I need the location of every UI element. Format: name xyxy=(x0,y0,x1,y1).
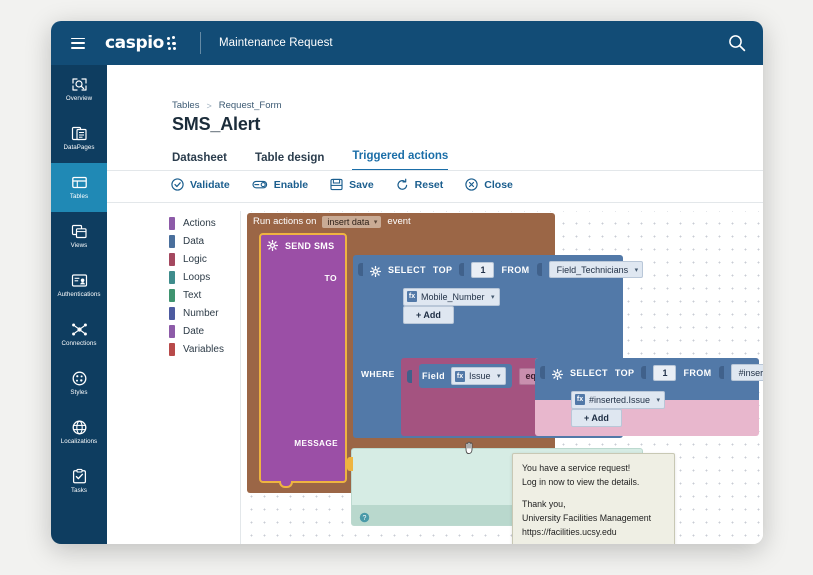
brand-dots-icon xyxy=(167,36,178,50)
block-plug xyxy=(347,457,353,471)
message-label: MESSAGE xyxy=(294,439,338,448)
close-button[interactable]: Close xyxy=(465,178,513,191)
palette-item-loops[interactable]: Loops xyxy=(169,268,240,286)
palette-swatch xyxy=(169,289,175,302)
connections-icon xyxy=(71,321,88,338)
action-toolbar: Validate Enable xyxy=(171,178,513,191)
message-text-popup[interactable]: You have a service request! Log in now t… xyxy=(512,453,675,544)
palette-label: Data xyxy=(183,236,204,247)
sidebar-item-connections[interactable]: Connections xyxy=(51,310,107,359)
page-title: SMS_Alert xyxy=(172,114,260,135)
sidebar-item-label: DataPages xyxy=(63,145,94,151)
popup-line-3: Thank you, xyxy=(522,498,665,512)
fx-field-icon: fx xyxy=(407,291,417,302)
send-sms-block[interactable]: SEND SMS TO MESSAGE xyxy=(259,233,347,483)
palette-label: Variables xyxy=(183,344,224,355)
block-plug xyxy=(719,366,724,379)
reset-label: Reset xyxy=(415,179,444,191)
chevron-down-icon: ▾ xyxy=(497,372,501,380)
add-field-button[interactable]: + Add xyxy=(403,306,454,324)
chevron-down-icon: ▾ xyxy=(374,218,378,226)
top-keyword: TOP xyxy=(615,368,635,378)
condition-field-chip[interactable]: fx Issue ▾ xyxy=(451,367,506,385)
close-label: Close xyxy=(484,179,513,191)
fx-field-icon: fx xyxy=(455,371,465,382)
popup-line-5: https://facilities.ucsy.edu xyxy=(522,526,665,540)
chevron-down-icon: ▾ xyxy=(491,293,495,301)
subquery-field-value: #inserted.Issue xyxy=(589,395,650,405)
select-field-chip[interactable]: fx Mobile_Number ▾ xyxy=(403,288,500,306)
save-button[interactable]: Save xyxy=(330,178,374,191)
tabs-divider xyxy=(107,170,763,171)
top-keyword: TOP xyxy=(433,265,453,275)
sidebar-item-label: Connections xyxy=(62,341,97,347)
chevron-down-icon: ▾ xyxy=(635,266,639,274)
sidebar-item-styles[interactable]: Styles xyxy=(51,359,107,408)
views-icon xyxy=(71,223,88,240)
from-table-select[interactable]: Field_Technicians ▾ xyxy=(549,261,644,278)
event-type-value: insert data xyxy=(327,217,369,227)
sidebar-item-label: Overview xyxy=(66,96,92,102)
content-area: Tables > Request_Form SMS_Alert Datashee… xyxy=(107,65,763,544)
subquery-container[interactable]: SELECT TOP 1 FROM #inserted ▾ xyxy=(535,358,759,436)
sidebar-item-authentications[interactable]: Authentications xyxy=(51,261,107,310)
select-keyword: SELECT xyxy=(570,368,608,378)
tab-triggered-actions[interactable]: Triggered actions xyxy=(352,150,448,171)
palette-swatch xyxy=(169,307,175,320)
reset-button[interactable]: Reset xyxy=(396,178,444,191)
select-keyword: SELECT xyxy=(388,265,426,275)
from-table-value: #inserted xyxy=(739,368,763,378)
gear-icon[interactable] xyxy=(552,367,563,378)
caspio-logo[interactable]: caspio xyxy=(105,33,178,53)
sidebar-item-overview[interactable]: Overview xyxy=(51,65,107,114)
event-container[interactable]: Run actions on insert data ▾ event xyxy=(247,213,555,493)
palette-swatch xyxy=(169,235,175,248)
palette-item-number[interactable]: Number xyxy=(169,304,240,322)
reset-undo-icon xyxy=(396,178,409,191)
gear-icon[interactable] xyxy=(370,264,381,275)
toggle-icon xyxy=(252,178,268,191)
pointer-hand-cursor xyxy=(463,441,475,455)
palette-item-data[interactable]: Data xyxy=(169,232,240,250)
block-plug xyxy=(407,370,412,383)
topbar-divider xyxy=(200,32,201,54)
top-bar: caspio Maintenance Request xyxy=(51,21,763,65)
fx-field-icon: fx xyxy=(575,394,585,405)
validate-button[interactable]: Validate xyxy=(171,178,230,191)
chevron-down-icon: ▾ xyxy=(657,396,661,404)
palette-swatch xyxy=(169,253,175,266)
app-window: caspio Maintenance Request Overvie xyxy=(51,21,763,544)
popup-line-2: Log in now to view the details. xyxy=(522,476,665,490)
sidebar-item-localizations[interactable]: Localizations xyxy=(51,408,107,457)
search-icon[interactable] xyxy=(727,33,747,53)
palette-swatch xyxy=(169,325,175,338)
field-keyword: Field xyxy=(422,371,445,381)
app-title: Maintenance Request xyxy=(219,37,333,49)
sidebar-item-datapages[interactable]: DataPages xyxy=(51,114,107,163)
palette-label: Loops xyxy=(183,272,210,283)
palette-label: Date xyxy=(183,326,204,337)
palette-swatch xyxy=(169,217,175,230)
send-sms-header: SEND SMS xyxy=(267,240,334,251)
popup-line-1: You have a service request! xyxy=(522,462,665,476)
to-label: TO xyxy=(325,273,337,283)
save-label: Save xyxy=(349,179,374,191)
enable-label: Enable xyxy=(274,179,308,191)
close-circle-icon xyxy=(465,178,478,191)
popup-spacer xyxy=(522,489,665,498)
trigger-canvas[interactable]: Run actions on insert data ▾ event xyxy=(241,211,763,544)
select-block-outer[interactable]: SELECT TOP 1 FROM Field_Technicians ▾ xyxy=(353,255,623,438)
breadcrumb-root[interactable]: Tables xyxy=(172,100,199,111)
palette-label: Text xyxy=(183,290,201,301)
breadcrumb-current[interactable]: Request_Form xyxy=(219,100,282,111)
sidebar-item-label: Tables xyxy=(70,194,88,200)
from-table-value: Field_Technicians xyxy=(557,265,629,275)
tab-table-design[interactable]: Table design xyxy=(255,152,324,171)
palette-swatch xyxy=(169,271,175,284)
palette-swatch xyxy=(169,343,175,356)
enable-button[interactable]: Enable xyxy=(252,178,308,191)
from-keyword: FROM xyxy=(683,368,711,378)
block-plug xyxy=(537,263,542,276)
localizations-globe-icon xyxy=(71,419,88,436)
event-header: Run actions on insert data ▾ event xyxy=(247,213,419,230)
block-plug xyxy=(358,263,363,276)
block-palette: Actions Data Logic Loops Text Number xyxy=(169,211,241,544)
sidebar-item-label: Localizations xyxy=(61,439,97,445)
sidebar-item-label: Authentications xyxy=(57,292,100,298)
sidebar-item-label: Tasks xyxy=(71,488,87,494)
palette-item-date[interactable]: Date xyxy=(169,322,240,340)
sidebar-item-label: Views xyxy=(71,243,88,249)
save-disk-icon xyxy=(330,178,343,191)
breadcrumb-separator: > xyxy=(206,101,211,111)
sidebar-item-views[interactable]: Views xyxy=(51,212,107,261)
validate-label: Validate xyxy=(190,179,230,191)
palette-label: Actions xyxy=(183,218,216,229)
toolbar-divider xyxy=(107,202,763,203)
left-sidebar: Overview DataPages xyxy=(51,65,107,544)
select-field-value: Mobile_Number xyxy=(421,292,485,302)
help-circle-icon[interactable]: ? xyxy=(359,510,370,521)
authentications-icon xyxy=(71,272,88,289)
palette-label: Number xyxy=(183,308,219,319)
tables-icon xyxy=(71,174,88,191)
tasks-icon xyxy=(71,468,88,485)
from-keyword: FROM xyxy=(501,265,529,275)
hamburger-icon[interactable] xyxy=(71,38,85,49)
block-plug xyxy=(540,366,545,379)
svg-text:?: ? xyxy=(363,515,367,522)
event-suffix-label: event xyxy=(387,216,410,227)
sidebar-item-label: Styles xyxy=(70,390,87,396)
overview-search-icon xyxy=(71,76,88,93)
palette-item-actions[interactable]: Actions xyxy=(169,214,240,232)
tab-datasheet[interactable]: Datasheet xyxy=(172,152,227,171)
top-value-input[interactable]: 1 xyxy=(653,365,676,381)
palette-item-variables[interactable]: Variables xyxy=(169,340,240,358)
condition-block[interactable]: Field fx Issue ▾ equal ▾ xyxy=(401,358,711,436)
top-value-input[interactable]: 1 xyxy=(471,262,494,278)
where-label: WHERE xyxy=(361,369,395,379)
block-plug xyxy=(459,263,464,276)
event-type-select[interactable]: insert data ▾ xyxy=(322,216,381,228)
brand-text: caspio xyxy=(105,33,164,53)
sidebar-item-tables[interactable]: Tables xyxy=(51,163,107,212)
block-plug xyxy=(641,366,646,379)
subquery-field-chip[interactable]: fx #inserted.Issue ▾ xyxy=(571,391,665,409)
tab-bar: Datasheet Table design Triggered actions xyxy=(172,145,448,171)
send-sms-title: SEND SMS xyxy=(285,241,334,251)
check-circle-icon xyxy=(171,178,184,191)
condition-field-value: Issue xyxy=(469,371,491,381)
palette-label: Logic xyxy=(183,254,207,265)
gear-icon[interactable] xyxy=(267,240,278,251)
palette-item-logic[interactable]: Logic xyxy=(169,250,240,268)
popup-line-4: University Facilities Management xyxy=(522,512,665,526)
block-notch xyxy=(279,481,293,488)
condition-field-group[interactable]: Field fx Issue ▾ xyxy=(419,364,512,388)
palette-item-text[interactable]: Text xyxy=(169,286,240,304)
sidebar-item-tasks[interactable]: Tasks xyxy=(51,457,107,506)
add-subquery-field-button[interactable]: + Add xyxy=(571,409,622,427)
styles-icon xyxy=(71,370,88,387)
from-table-select[interactable]: #inserted ▾ xyxy=(731,364,763,381)
event-prefix-label: Run actions on xyxy=(253,216,316,227)
breadcrumb: Tables > Request_Form xyxy=(172,100,282,111)
datapages-icon xyxy=(71,125,88,142)
